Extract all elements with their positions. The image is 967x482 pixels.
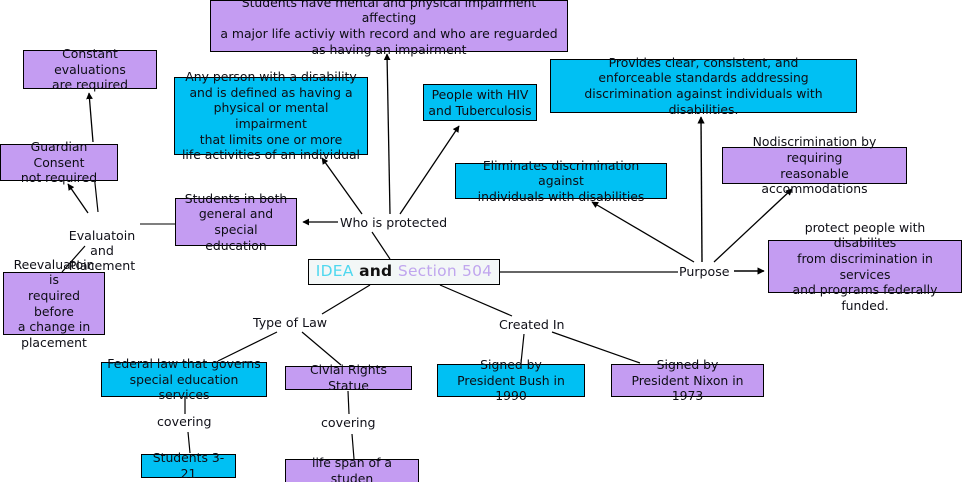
link-label-text: covering bbox=[321, 415, 375, 430]
link-label-text: Created In bbox=[499, 317, 565, 332]
node-constant-evaluations[interactable]: Constant evaluations are required bbox=[23, 50, 157, 89]
node-label: life span of a studen bbox=[290, 455, 414, 482]
node-students-impairment[interactable]: Students have mental and physical impair… bbox=[210, 0, 568, 52]
link-label-purpose: Purpose bbox=[679, 264, 730, 279]
link-label-covering-left: covering bbox=[157, 414, 211, 429]
node-label: Constant evaluations are required bbox=[28, 46, 152, 93]
node-label: Nodiscrimination by requiring reasonable… bbox=[727, 134, 902, 197]
node-signed-bush[interactable]: Signed by President Bush in 1990 bbox=[437, 364, 585, 397]
node-label: Eliminates discrimination against indivi… bbox=[460, 158, 662, 205]
node-label: Any person with a disability and is defi… bbox=[179, 69, 363, 163]
node-label: Federal law that governs special educati… bbox=[106, 356, 262, 403]
node-label: Civial Rights Statue bbox=[290, 362, 407, 393]
node-signed-nixon[interactable]: Signed by President Nixon in 1973 bbox=[611, 364, 764, 397]
link-label-text: Purpose bbox=[679, 264, 730, 279]
node-guardian-consent[interactable]: Guardian Consent not required bbox=[0, 144, 118, 181]
node-label: Signed by President Nixon in 1973 bbox=[616, 357, 759, 404]
node-eliminates-discrimination[interactable]: Eliminates discrimination against indivi… bbox=[455, 163, 667, 199]
center-word-and: and bbox=[354, 263, 398, 280]
link-label-text: Evaluatoin and Placement bbox=[69, 228, 135, 273]
node-any-person-disability[interactable]: Any person with a disability and is defi… bbox=[174, 77, 368, 155]
center-node-idea-section504[interactable]: IDEA and Section 504 bbox=[308, 259, 500, 285]
concept-map-canvas: Students have mental and physical impair… bbox=[0, 0, 967, 482]
link-label-evaluation-and-placement: Evaluatoin and Placement bbox=[56, 213, 148, 273]
center-word-idea: IDEA bbox=[316, 263, 354, 280]
node-label: protect people with disabilites from dis… bbox=[773, 220, 957, 314]
node-label: Students have mental and physical impair… bbox=[215, 0, 563, 57]
node-reevaluation[interactable]: Reevaluatoin is required before a change… bbox=[3, 272, 105, 335]
node-federal-law[interactable]: Federal law that governs special educati… bbox=[101, 362, 267, 397]
link-label-who-is-protected: Who is protected bbox=[340, 215, 447, 230]
node-civil-rights-statue[interactable]: Civial Rights Statue bbox=[285, 366, 412, 390]
node-provides-clear-standards[interactable]: Provides clear, consistent, and enforcea… bbox=[550, 59, 857, 113]
node-label: People with HIV and Tuberculosis bbox=[428, 87, 531, 118]
link-label-text: Who is protected bbox=[340, 215, 447, 230]
node-protect-people-disabilities[interactable]: protect people with disabilites from dis… bbox=[768, 240, 962, 293]
center-word-section504: Section 504 bbox=[398, 263, 492, 280]
link-label-type-of-law: Type of Law bbox=[253, 315, 327, 330]
node-people-hiv[interactable]: People with HIV and Tuberculosis bbox=[423, 84, 537, 121]
node-label: Students in both general and special edu… bbox=[180, 191, 292, 254]
node-life-span[interactable]: life span of a studen bbox=[285, 459, 419, 482]
node-label: Provides clear, consistent, and enforcea… bbox=[555, 55, 852, 118]
node-label: Students 3-21 bbox=[146, 450, 231, 481]
link-label-text: Type of Law bbox=[253, 315, 327, 330]
node-label: Guardian Consent not required bbox=[5, 139, 113, 186]
node-nondiscrimination[interactable]: Nodiscrimination by requiring reasonable… bbox=[722, 147, 907, 184]
node-students-both-education[interactable]: Students in both general and special edu… bbox=[175, 198, 297, 246]
node-label: Signed by President Bush in 1990 bbox=[442, 357, 580, 404]
node-students-3-21[interactable]: Students 3-21 bbox=[141, 454, 236, 478]
link-label-created-in: Created In bbox=[499, 317, 565, 332]
link-label-text: covering bbox=[157, 414, 211, 429]
link-label-covering-right: covering bbox=[321, 415, 375, 430]
